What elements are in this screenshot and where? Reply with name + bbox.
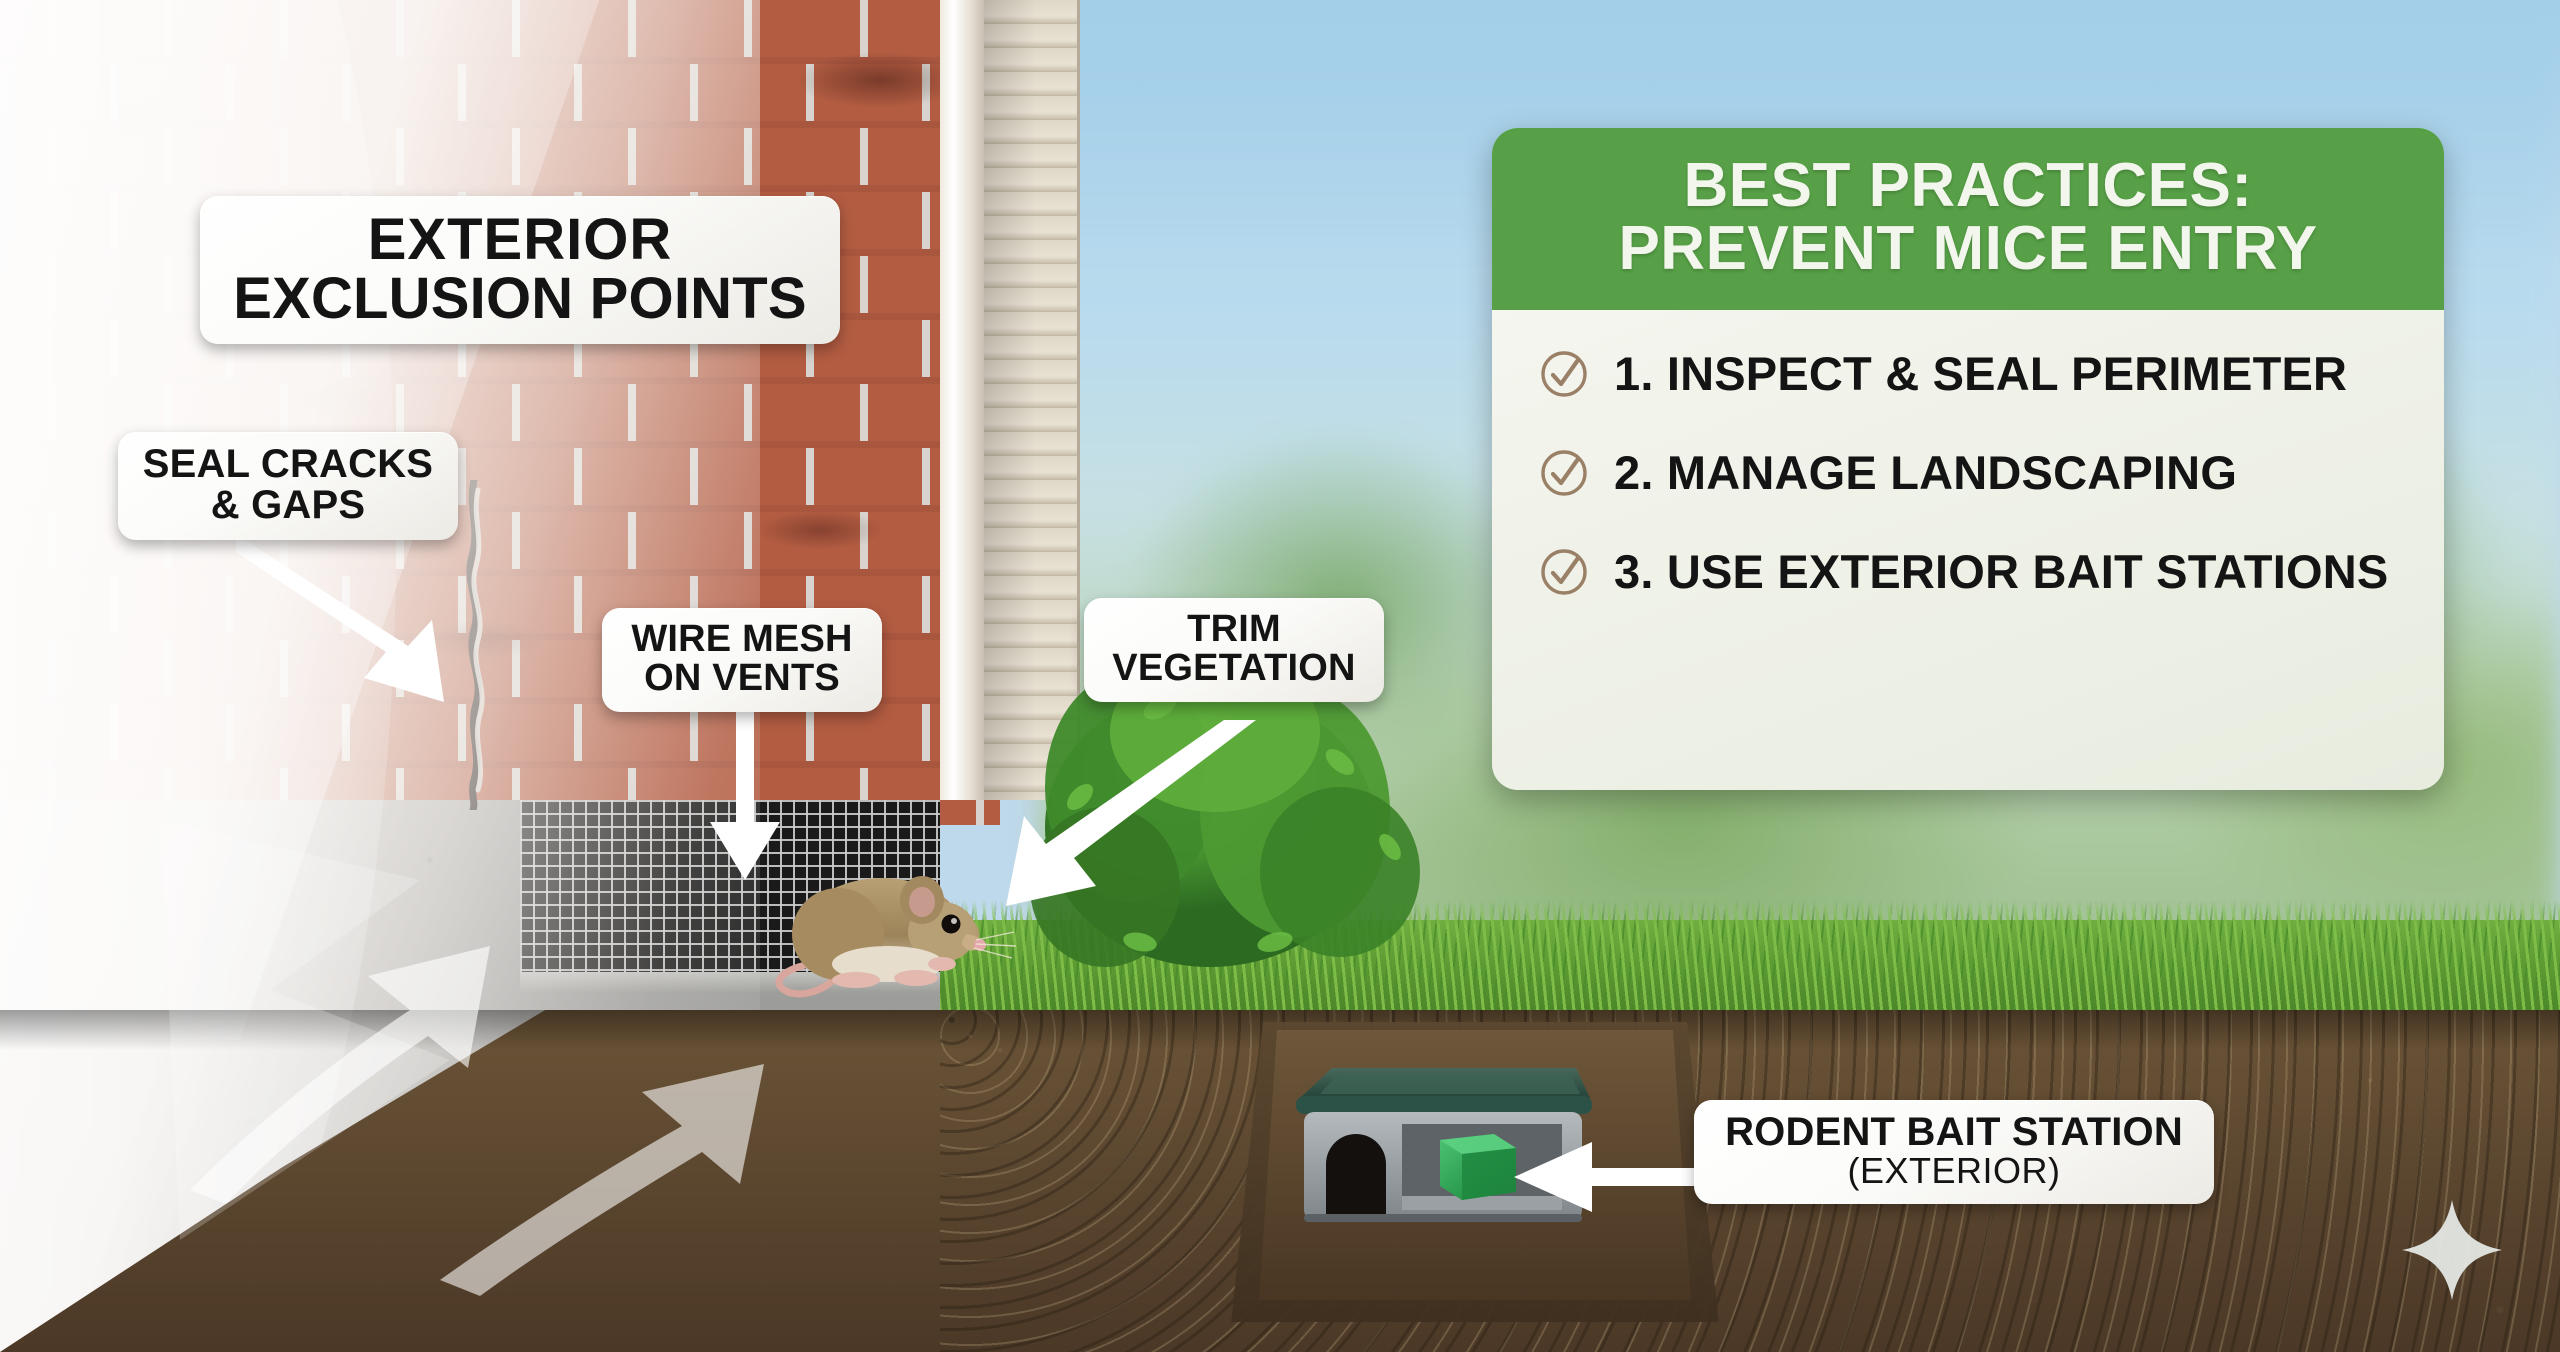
- callout-seal-line2: & GAPS: [138, 485, 438, 526]
- callout-bait-line2: (EXTERIOR): [1714, 1153, 2194, 1190]
- arrow-to-shrub: [1000, 720, 1260, 940]
- panel-header: BEST PRACTICES: PREVENT MICE ENTRY: [1492, 128, 2444, 310]
- callout-mesh-line1: WIRE MESH: [620, 620, 864, 659]
- panel-list: 1. INSPECT & SEAL PERIMETER 2. MANAGE LA…: [1492, 310, 2444, 599]
- list-item: 3. USE EXTERIOR BAIT STATIONS: [1538, 544, 2404, 599]
- panel-header-line2: PREVENT MICE ENTRY: [1516, 217, 2420, 280]
- mouse-figure: [770, 852, 1020, 1000]
- callout-mesh-line2: ON VENTS: [620, 659, 864, 698]
- callout-title-line1: EXTERIOR: [226, 210, 814, 269]
- check-circle-icon: [1538, 447, 1590, 499]
- callout-exterior-exclusion-points: EXTERIOR EXCLUSION POINTS: [200, 196, 840, 344]
- callout-trim-vegetation: TRIM VEGETATION: [1084, 598, 1384, 702]
- list-item: 1. INSPECT & SEAL PERIMETER: [1538, 346, 2404, 401]
- list-item-label: 3. USE EXTERIOR BAIT STATIONS: [1614, 544, 2388, 599]
- infographic-canvas: EXTERIOR EXCLUSION POINTS SEAL CRACKS & …: [0, 0, 2560, 1352]
- callout-title-line2: EXCLUSION POINTS: [226, 269, 814, 328]
- callout-seal-line1: SEAL CRACKS: [138, 444, 438, 485]
- check-circle-icon: [1538, 348, 1590, 400]
- airflow-arrow-background: [120, 820, 480, 1240]
- airflow-arrow-up-right: [420, 980, 880, 1300]
- callout-seal-cracks-gaps: SEAL CRACKS & GAPS: [118, 432, 458, 540]
- list-item: 2. MANAGE LANDSCAPING: [1538, 445, 2404, 500]
- list-item-label: 2. MANAGE LANDSCAPING: [1614, 445, 2237, 500]
- callout-veg-line1: TRIM: [1102, 610, 1366, 649]
- callout-rodent-bait-station: RODENT BAIT STATION (EXTERIOR): [1694, 1100, 2214, 1204]
- arrow-to-vent: [700, 710, 790, 890]
- sparkle-icon: [2398, 1196, 2506, 1304]
- check-circle-icon: [1538, 546, 1590, 598]
- list-item-label: 1. INSPECT & SEAL PERIMETER: [1614, 346, 2347, 401]
- callout-wire-mesh-on-vents: WIRE MESH ON VENTS: [602, 608, 882, 712]
- callout-veg-line2: VEGETATION: [1102, 649, 1366, 688]
- arrow-to-crack: [236, 528, 516, 728]
- best-practices-panel: BEST PRACTICES: PREVENT MICE ENTRY 1. IN…: [1492, 128, 2444, 790]
- callout-bait-line1: RODENT BAIT STATION: [1714, 1112, 2194, 1153]
- corner-trim: [940, 0, 984, 800]
- panel-header-line1: BEST PRACTICES:: [1516, 154, 2420, 217]
